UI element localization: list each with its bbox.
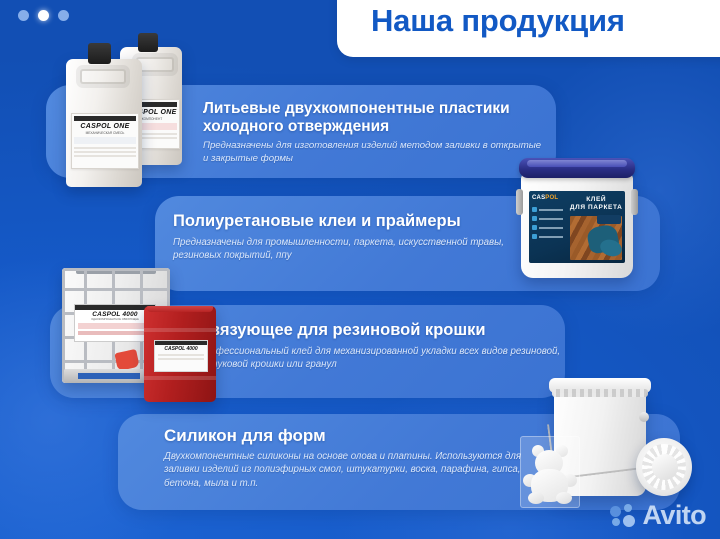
round-silicone-mold bbox=[636, 438, 692, 496]
label-bar bbox=[74, 116, 136, 121]
card-text-block: Полиуретановые клеи и праймеры Предназна… bbox=[173, 212, 553, 262]
label-bar bbox=[75, 305, 155, 310]
pail-lid-highlight bbox=[527, 160, 627, 167]
feature-item bbox=[532, 225, 564, 230]
drum-top bbox=[147, 306, 213, 312]
pail-crimp bbox=[552, 389, 648, 397]
canister-handle-icon bbox=[76, 65, 130, 88]
pail-feature-list bbox=[532, 207, 564, 239]
card-title: Литьевые двухкомпонентные пластики холод… bbox=[203, 100, 543, 135]
label-rows bbox=[74, 147, 136, 157]
pail-ear-icon bbox=[639, 412, 649, 422]
feature-icon bbox=[532, 207, 537, 212]
silicone-pail-and-molds-image bbox=[520, 378, 695, 520]
carousel-dot-3[interactable] bbox=[58, 10, 69, 21]
label-bar bbox=[155, 341, 207, 345]
card-description: Профессиональный клей для механизированн… bbox=[198, 345, 578, 371]
ibc-tank-and-drum-image: CASPOL 4000 ОДНОКОМПОНЕНТНОЕ СВЯЗУЮЩЕЕ C… bbox=[58, 262, 218, 402]
feature-icon bbox=[532, 216, 537, 221]
drum-brand: CASPOL 4000 bbox=[155, 346, 207, 352]
poster-canvas: Наша продукция Литьевые двухкомпонентные… bbox=[0, 0, 720, 539]
avito-watermark: Avito bbox=[610, 502, 707, 529]
carousel-dots[interactable] bbox=[18, 10, 69, 21]
label-accent bbox=[78, 323, 152, 329]
canister-cap-icon bbox=[138, 33, 158, 52]
bear-leg-right bbox=[556, 492, 572, 504]
pail-label-right: КЛЕЙ ДЛЯ ПАРКЕТА bbox=[567, 191, 625, 263]
pail-headline: КЛЕЙ ДЛЯ ПАРКЕТА bbox=[567, 191, 625, 212]
bear-leg-left bbox=[528, 492, 544, 504]
pail-brand: CASPOL bbox=[532, 195, 564, 201]
card-text-block: Силикон для форм Двухкомпонентные силико… bbox=[164, 426, 554, 490]
card-title: Силикон для форм bbox=[164, 426, 554, 445]
feature-icon bbox=[532, 225, 537, 230]
header-pill: Наша продукция bbox=[337, 0, 720, 57]
card-description: Предназначены для промышленности, паркет… bbox=[173, 236, 553, 262]
pail-label-left: CASPOL bbox=[529, 191, 567, 263]
avito-wordmark: Avito bbox=[643, 502, 707, 529]
canister-label-front: CASPOL ONE МЕХАНИЧЕСКАЯ СМЕСЬ bbox=[71, 113, 139, 169]
carousel-dot-1[interactable] bbox=[18, 10, 29, 21]
parquet-glue-bucket-image: CASPOL КЛЕЙ ДЛЯ ПАРКЕТА bbox=[513, 155, 645, 280]
label-tint bbox=[74, 137, 136, 144]
canister-subtitle-front: МЕХАНИЧЕСКАЯ СМЕСЬ bbox=[72, 131, 138, 135]
card-text-block: Связующее для резиновой крошки Профессио… bbox=[198, 321, 578, 371]
card-text-block: Литьевые двухкомпонентные пластики холод… bbox=[203, 100, 543, 166]
canister-brand-front: CASPOL ONE bbox=[72, 123, 138, 130]
card-title: Связующее для резиновой крошки bbox=[198, 321, 578, 340]
ibc-brand: CASPOL 4000 bbox=[75, 311, 155, 318]
pail-badge bbox=[597, 215, 621, 224]
card-description: Предназначены для изготовления изделий м… bbox=[203, 140, 543, 166]
feature-item bbox=[532, 234, 564, 239]
pail-label: CASPOL КЛЕЙ ДЛЯ ПАРКЕТА bbox=[529, 191, 625, 263]
label-accent-2 bbox=[78, 331, 152, 335]
card-description: Двухкомпонентные силиконы на основе олов… bbox=[164, 450, 554, 489]
canister-front: CASPOL ONE МЕХАНИЧЕСКАЯ СМЕСЬ bbox=[66, 59, 142, 187]
feature-icon bbox=[532, 234, 537, 239]
avito-logo-icon bbox=[610, 504, 636, 528]
card-title: Полиуретановые клеи и праймеры bbox=[173, 212, 553, 231]
feature-item bbox=[532, 207, 564, 212]
pail-handle-left-icon bbox=[516, 189, 523, 215]
carousel-dot-2[interactable] bbox=[38, 10, 49, 21]
mold-core bbox=[652, 454, 678, 480]
feature-item bbox=[532, 216, 564, 221]
page-title: Наша продукция bbox=[371, 5, 625, 36]
glue-pail: CASPOL КЛЕЙ ДЛЯ ПАРКЕТА bbox=[521, 173, 633, 278]
pail-handle-right-icon bbox=[631, 189, 638, 215]
ibc-subtitle: ОДНОКОМПОНЕНТНОЕ СВЯЗУЮЩЕЕ bbox=[75, 318, 155, 321]
red-drum: CASPOL 4000 bbox=[144, 306, 216, 402]
drum-label: CASPOL 4000 bbox=[154, 340, 208, 372]
teddy-bear-mold bbox=[520, 436, 580, 508]
canister-cap-icon bbox=[88, 43, 111, 64]
canisters-image: CASPOL ONE КОМПОНЕНТ CASPOL ONE МЕХАНИЧЕ… bbox=[58, 33, 208, 183]
